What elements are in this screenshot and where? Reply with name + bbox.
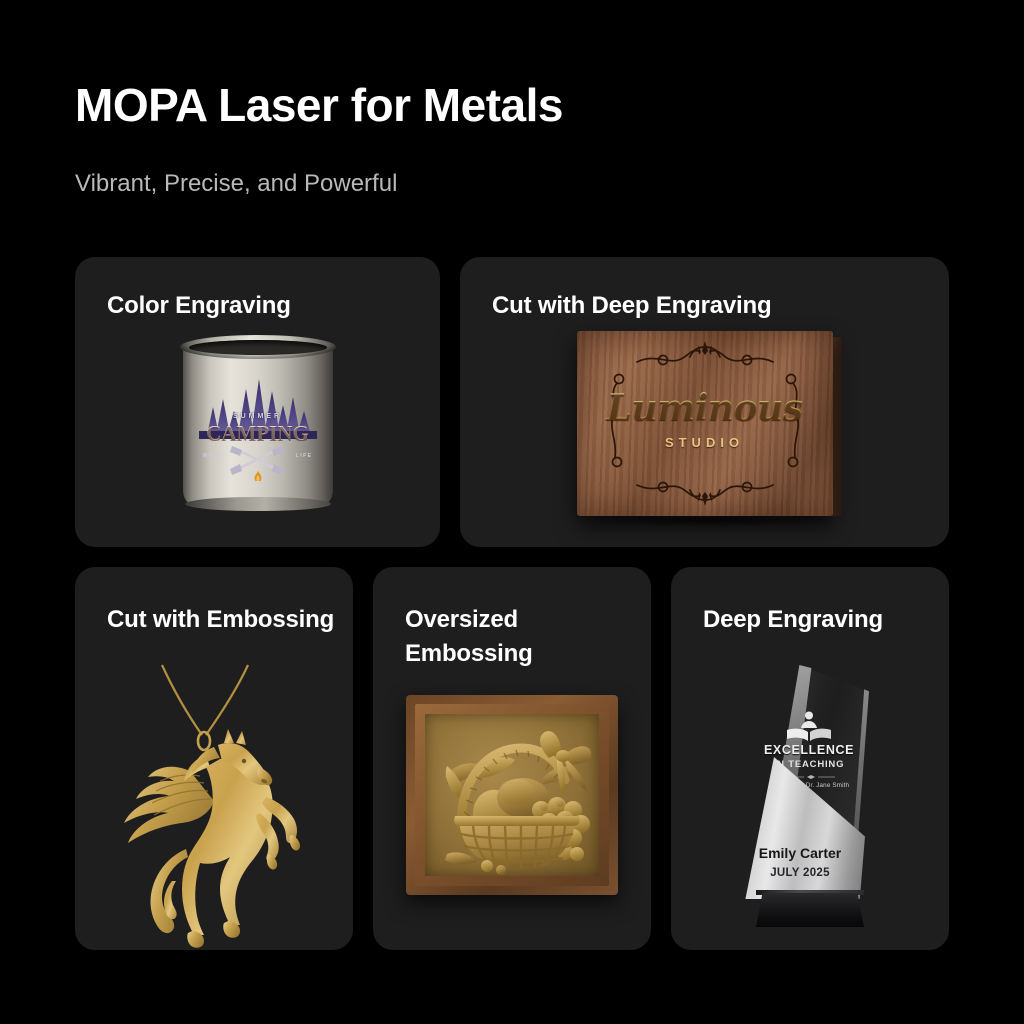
card-deep-engraving[interactable]: Deep Engraving EXCELLENCE IN [671, 567, 949, 950]
promo-page: MOPA Laser for Metals Vibrant, Precise, … [0, 0, 1024, 1024]
mug-wild-text: WILD [203, 453, 222, 459]
feature-card-grid: Color Engraving [75, 257, 949, 950]
card-cut-with-embossing[interactable]: Cut with Embossing [75, 567, 353, 950]
mug-summer-text: SUMMER [199, 413, 317, 420]
card-oversized-embossing[interactable]: Oversized Embossing [373, 567, 651, 950]
card-cut-with-deep-engraving[interactable]: Cut with Deep Engraving [460, 257, 949, 547]
mug-life-text: LIFE [296, 453, 313, 459]
camping-mug-image: SUMMER CAMPING [75, 335, 440, 525]
card-label: Deep Engraving [703, 603, 883, 637]
card-color-engraving[interactable]: Color Engraving [75, 257, 440, 547]
page-subtitle: Vibrant, Precise, and Powerful [75, 170, 397, 198]
open-book-icon [783, 711, 835, 741]
crystal-trophy-image: EXCELLENCE IN TEACHING Awarded to: Dr. J… [671, 665, 949, 935]
card-label: Cut with Embossing [107, 603, 334, 637]
wood-plaque-image: Luminous STUDIO [460, 331, 949, 531]
fruit-basket-relief-image [373, 695, 651, 925]
mug-camping-text: CAMPING [199, 421, 317, 446]
plaque-subtitle-text: STUDIO [577, 435, 833, 450]
card-row-bottom: Cut with Embossing [75, 567, 949, 950]
flame-icon [252, 471, 264, 481]
card-label: Oversized Embossing [405, 603, 651, 671]
pegasus-icon [102, 663, 326, 949]
trophy-title: EXCELLENCE [749, 743, 869, 757]
fruit-basket-icon [425, 714, 599, 876]
trophy-subtitle: IN TEACHING [749, 759, 869, 770]
trophy-date: JULY 2025 [735, 867, 865, 879]
card-label: Color Engraving [107, 289, 291, 323]
card-row-top: Color Engraving [75, 257, 949, 547]
trophy-recipient-name: Emily Carter [735, 845, 865, 861]
plaque-script-text: Luminous [577, 387, 833, 429]
page-title: MOPA Laser for Metals [75, 80, 563, 131]
card-label: Cut with Deep Engraving [492, 289, 771, 323]
pegasus-pendant-image [75, 663, 353, 949]
